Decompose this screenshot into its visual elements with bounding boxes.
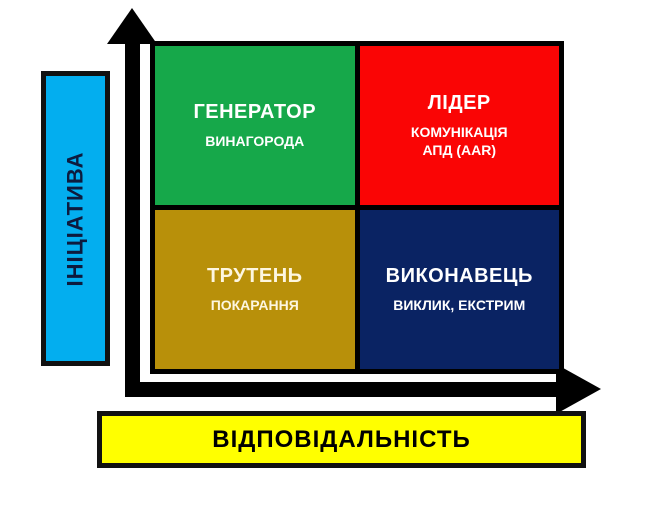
vertical-axis-line xyxy=(125,36,140,397)
quadrant-title: ВИКОНАВЕЦЬ xyxy=(386,265,533,288)
horizontal-axis-label-box: ВІДПОВІДАЛЬНІСТЬ xyxy=(97,411,586,468)
quadrant-top-right-leader[interactable]: ЛІДЕР КОМУНІКАЦІЯ АПД (AAR) xyxy=(360,46,560,205)
quadrant-matrix-diagram: ГЕНЕРАТОР ВИНАГОРОДА ЛІДЕР КОМУНІКАЦІЯ А… xyxy=(0,0,650,507)
quadrant-top-left-generator[interactable]: ГЕНЕРАТОР ВИНАГОРОДА xyxy=(155,46,355,205)
horizontal-axis-line xyxy=(125,382,559,397)
quadrant-subtitle: ПОКАРАННЯ xyxy=(211,297,299,315)
quadrant-title: ЛІДЕР xyxy=(428,92,491,115)
quadrant-subtitle: КОМУНІКАЦІЯ АПД (AAR) xyxy=(411,124,508,159)
quadrant-title: ТРУТЕНЬ xyxy=(207,265,303,288)
quadrant-title: ГЕНЕРАТОР xyxy=(193,101,316,124)
quadrant-subtitle: ВИКЛИК, ЕКСТРИМ xyxy=(393,297,525,315)
quadrant-grid: ГЕНЕРАТОР ВИНАГОРОДА ЛІДЕР КОМУНІКАЦІЯ А… xyxy=(150,41,564,374)
vertical-axis-label-text: ІНІЦІАТИВА xyxy=(63,151,89,286)
quadrant-bottom-left-drone[interactable]: ТРУТЕНЬ ПОКАРАННЯ xyxy=(155,210,355,369)
vertical-axis-label-box: ІНІЦІАТИВА xyxy=(41,71,110,366)
quadrant-subtitle: ВИНАГОРОДА xyxy=(205,133,304,151)
quadrant-bottom-right-performer[interactable]: ВИКОНАВЕЦЬ ВИКЛИК, ЕКСТРИМ xyxy=(360,210,560,369)
horizontal-axis-label-text: ВІДПОВІДАЛЬНІСТЬ xyxy=(212,426,470,454)
